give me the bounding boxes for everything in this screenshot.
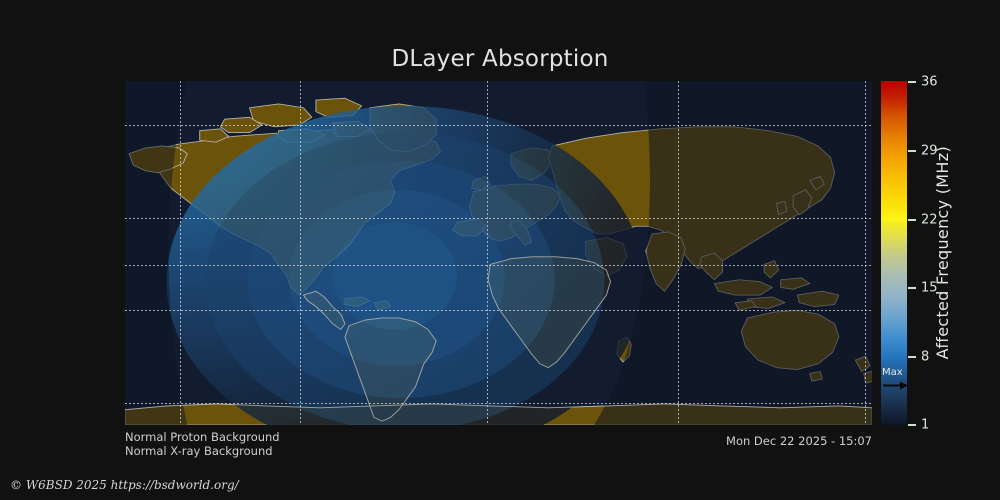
colorbar-tick-1 <box>908 424 916 426</box>
colorbar-tick-29 <box>908 150 916 152</box>
colorbar-label-1: 1 <box>921 418 929 433</box>
colorbar-axis-title: Affected Frequency (MHz) <box>930 81 954 425</box>
max-arrow-icon <box>882 381 908 390</box>
xray-background-note: Normal X-ray Background <box>125 444 273 458</box>
colorbar-tick-36 <box>908 81 916 83</box>
colorbar-axis-title-text: Affected Frequency (MHz) <box>933 146 952 359</box>
world-map[interactable] <box>125 81 872 425</box>
colorbar-max-label: Max <box>882 368 903 378</box>
colorbar-label-8: 8 <box>921 350 929 365</box>
timestamp: Mon Dec 22 2025 - 15:07 <box>726 434 872 448</box>
proton-background-note: Normal Proton Background <box>125 430 280 444</box>
copyright-footer: © W6BSD 2025 https://bsdworld.org/ <box>10 478 239 492</box>
colorbar-tick-15 <box>908 287 916 289</box>
colorbar-tick-22 <box>908 219 916 221</box>
page-title: DLayer Absorption <box>0 46 1000 72</box>
colorbar-tick-8 <box>908 356 916 358</box>
figure-root: DLayer Absorption <box>0 0 1000 500</box>
map-canvas <box>125 81 872 425</box>
